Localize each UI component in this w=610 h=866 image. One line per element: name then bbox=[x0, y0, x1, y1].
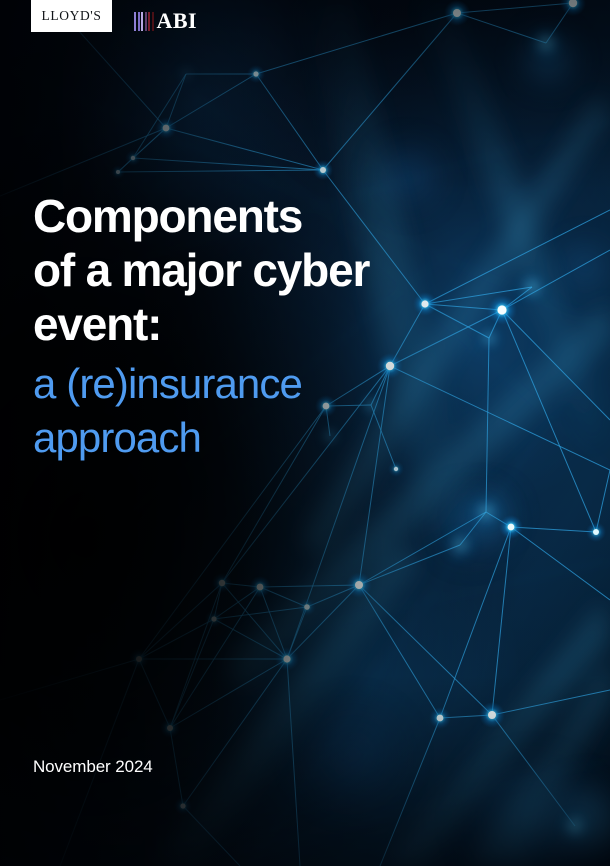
abi-logo: ABI bbox=[134, 0, 197, 37]
title-line-3: event: bbox=[33, 298, 161, 350]
logo-row: LLOYD'S ABI bbox=[31, 0, 197, 37]
title-line-1: Components bbox=[33, 190, 302, 242]
page-subtitle: a (re)insurance approach bbox=[33, 357, 413, 465]
publication-date: November 2024 bbox=[33, 757, 153, 777]
document-cover: LLOYD'S ABI Components of a major cyber … bbox=[0, 0, 610, 866]
subtitle-line-2: approach bbox=[33, 414, 201, 461]
abi-logo-text: ABI bbox=[157, 10, 198, 32]
lloyds-logo: LLOYD'S bbox=[31, 0, 112, 32]
page-title: Components of a major cyber event: bbox=[33, 190, 413, 351]
lloyds-logo-text: LLOYD'S bbox=[42, 8, 102, 24]
subtitle-line-1: a (re)insurance bbox=[33, 360, 302, 407]
abi-logo-bars-icon bbox=[134, 12, 154, 31]
title-line-2: of a major cyber bbox=[33, 244, 369, 296]
title-block: Components of a major cyber event: a (re… bbox=[33, 190, 413, 465]
